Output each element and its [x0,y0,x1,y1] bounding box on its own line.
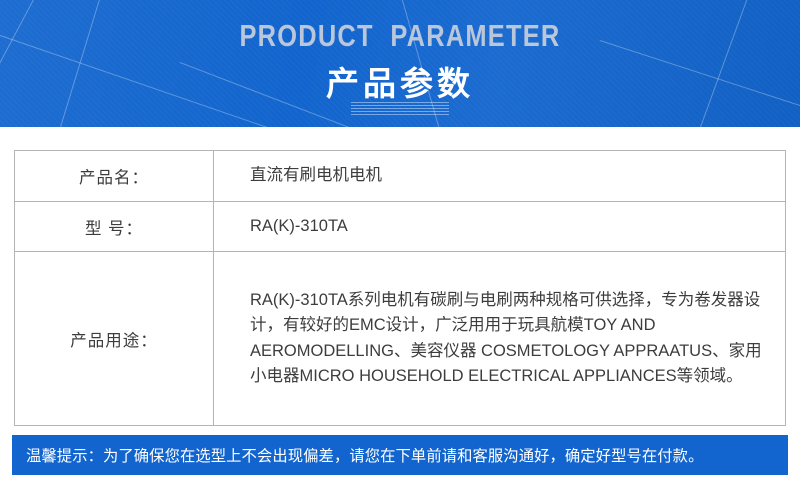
footer-tip-banner: 温馨提示：为了确保您在选型上不会出现偏差，请您在下单前请和客服沟通好，确定好型号… [12,435,788,475]
spec-label-model: 型 号： [15,202,214,252]
table-row: 产品名： 直流有刷电机电机 [15,151,786,202]
spec-label-application: 产品用途： [15,252,214,426]
spec-value-application: RA(K)-310TA系列电机有碳刷与电刷两种规格可供选择，专为卷发器设计，有较… [214,252,786,426]
spec-value-product-name: 直流有刷电机电机 [214,151,786,202]
product-spec-table: 产品名： 直流有刷电机电机 型 号： RA(K)-310TA 产品用途： RA(… [14,150,786,426]
product-parameter-page: PRODUCT PARAMETER 产品参数 产品名： 直流有刷电机电机 型 号… [0,0,800,481]
spec-label-product-name: 产品名： [15,151,214,202]
table-row: 产品用途： RA(K)-310TA系列电机有碳刷与电刷两种规格可供选择，专为卷发… [15,252,786,426]
footer-tip-text: 温馨提示：为了确保您在选型上不会出现偏差，请您在下单前请和客服沟通好，确定好型号… [12,444,703,466]
table-row: 型 号： RA(K)-310TA [15,202,786,252]
header-title-chinese: 产品参数 [0,57,800,105]
header-striped-decoration [351,102,449,116]
header-title-english: PRODUCT PARAMETER [72,18,728,54]
spec-value-model: RA(K)-310TA [214,202,786,252]
header-banner: PRODUCT PARAMETER 产品参数 [0,0,800,127]
